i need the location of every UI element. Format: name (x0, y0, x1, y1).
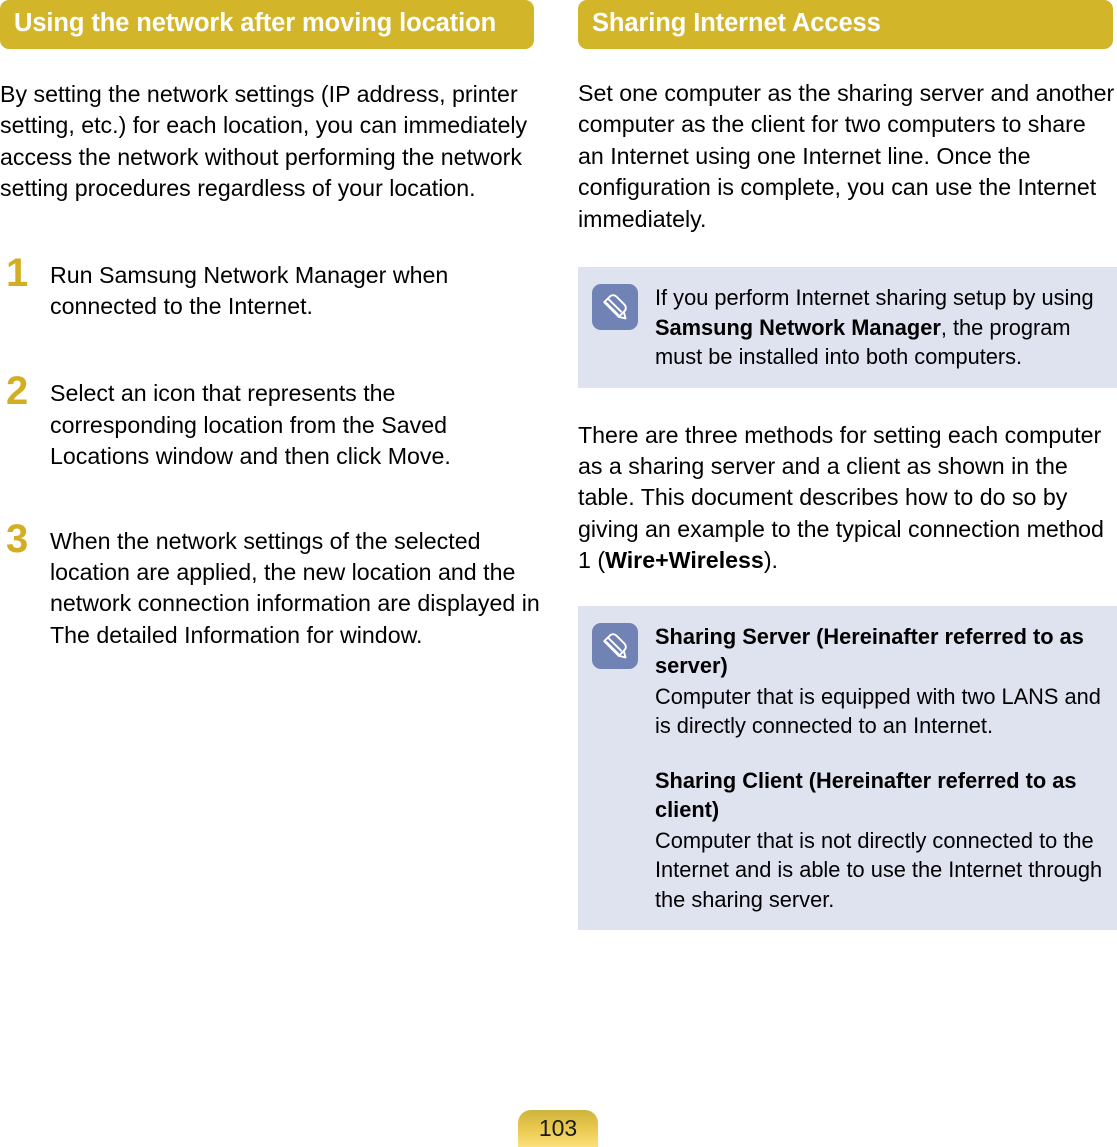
document-page: Using the network after moving location … (0, 0, 1117, 1147)
left-column: Using the network after moving location … (0, 0, 545, 651)
right-section-heading: Sharing Internet Access (578, 0, 1113, 49)
sharing-server-description: Computer that is equipped with two LANS … (655, 682, 1103, 741)
step-number-3: 3 (6, 519, 28, 559)
right-intro-paragraph: Set one computer as the sharing server a… (578, 78, 1115, 235)
step-item-2: 2 Select an icon that represents the cor… (0, 378, 545, 472)
middle-text-2: ). (764, 547, 778, 573)
note-box-sharing-manager-text: If you perform Internet sharing setup by… (655, 281, 1103, 372)
left-intro-paragraph: By setting the network settings (IP addr… (0, 79, 540, 205)
note-box-server-client-definitions: Sharing Server (Hereinafter referred to … (578, 606, 1117, 931)
page-number: 103 (518, 1110, 598, 1147)
sharing-client-title: Sharing Client (Hereinafter referred to … (655, 766, 1103, 824)
pencil-icon (592, 284, 638, 330)
step-item-3: 3 When the network settings of the selec… (0, 526, 545, 652)
left-section-heading: Using the network after moving location (0, 0, 534, 49)
step-number-2: 2 (6, 371, 28, 411)
right-column: Sharing Internet Access Set one computer… (578, 0, 1117, 930)
sharing-client-description: Computer that is not directly connected … (655, 826, 1103, 915)
note1-text-1: If you perform Internet sharing setup by… (655, 285, 1094, 310)
note1-bold-1: Samsung Network Manager (655, 315, 941, 340)
pencil-icon (592, 623, 638, 669)
step-item-1: 1 Run Samsung Network Manager when conne… (0, 260, 545, 323)
step-text-2: Select an icon that represents the corre… (50, 380, 451, 469)
sharing-server-title: Sharing Server (Hereinafter referred to … (655, 622, 1103, 680)
step-text-1: Run Samsung Network Manager when connect… (50, 262, 448, 319)
note-box-definitions-text: Sharing Server (Hereinafter referred to … (655, 620, 1103, 915)
step-text-3: When the network settings of the selecte… (50, 528, 540, 648)
middle-bold-1: Wire+Wireless (605, 547, 764, 573)
right-middle-paragraph: There are three methods for setting each… (578, 420, 1115, 577)
note-box-sharing-manager: If you perform Internet sharing setup by… (578, 267, 1117, 388)
step-number-1: 1 (6, 253, 28, 293)
